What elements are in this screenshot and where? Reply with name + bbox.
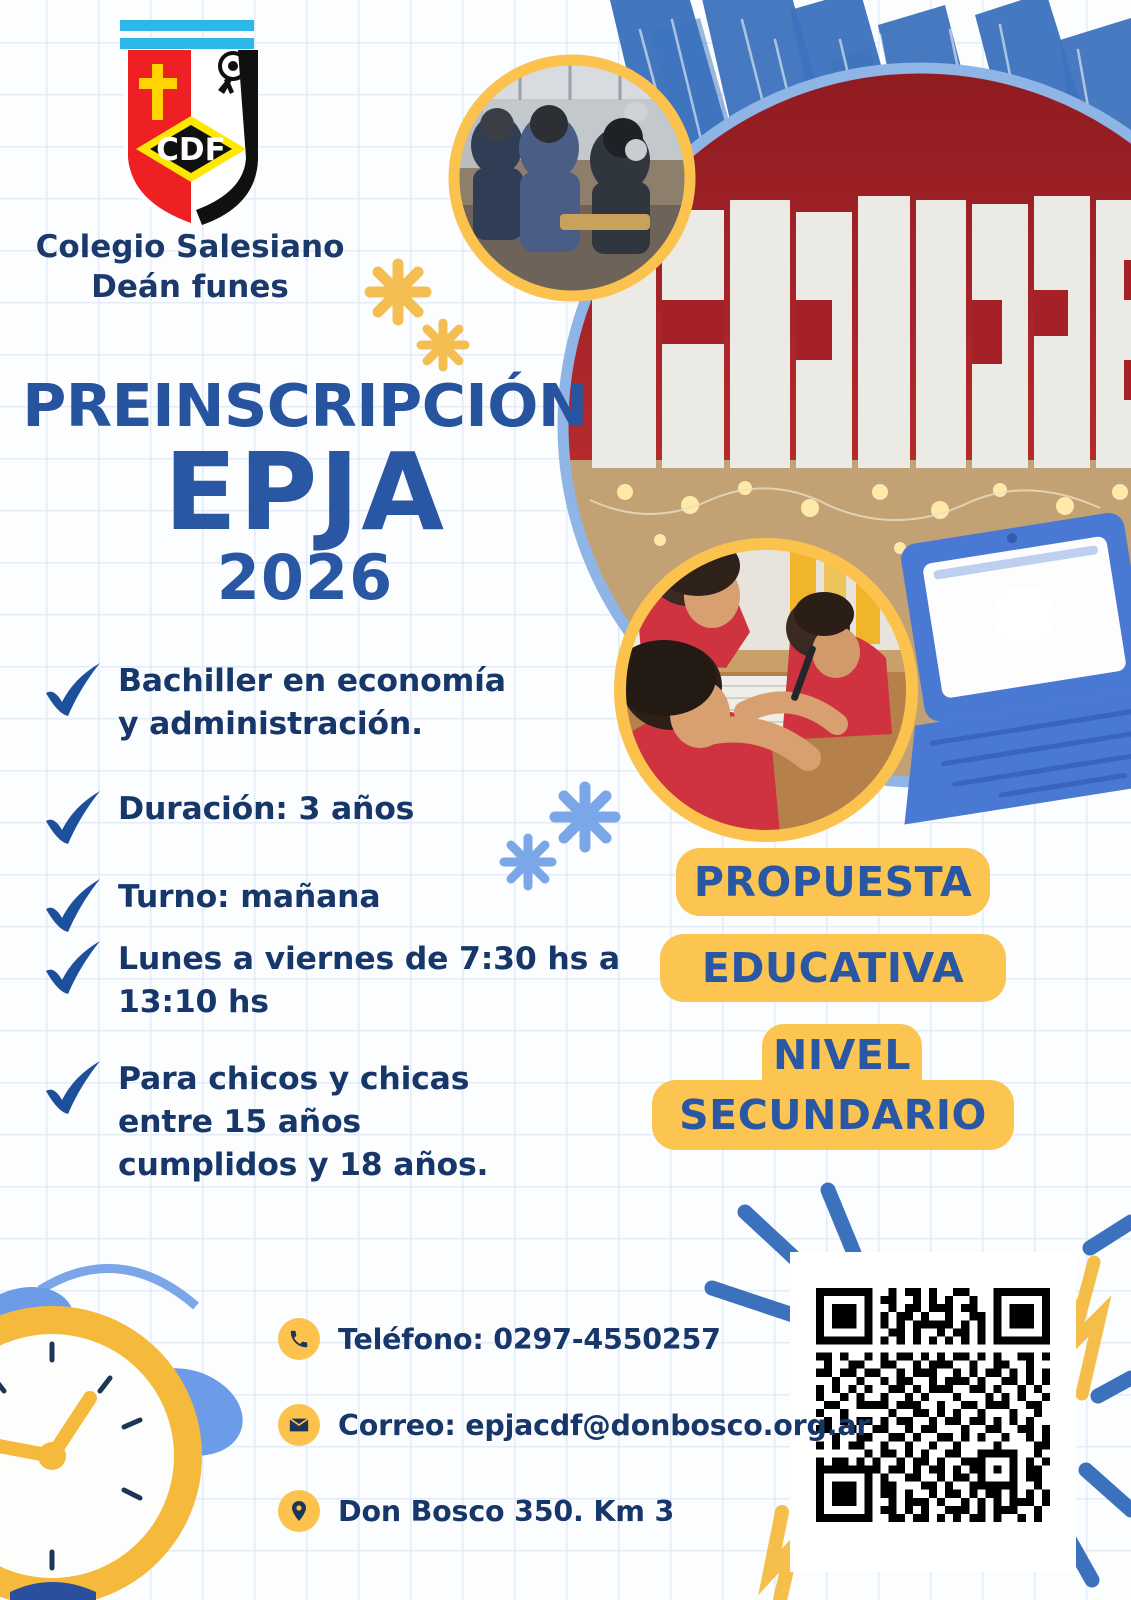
contact-address-row: Don Bosco 350. Km 3 [278, 1490, 870, 1532]
contact-email-row: Correo: epjacdf@donbosco.org.ar [278, 1404, 870, 1446]
contact-email-text: Correo: epjacdf@donbosco.org.ar [338, 1409, 870, 1442]
email-icon [278, 1404, 320, 1446]
contact-info: Teléfono: 0297-4550257 Correo: epjacdf@d… [278, 1318, 870, 1576]
contact-phone-text: Teléfono: 0297-4550257 [338, 1323, 721, 1356]
contact-phone-row: Teléfono: 0297-4550257 [278, 1318, 870, 1360]
phone-icon [278, 1318, 320, 1360]
location-icon [278, 1490, 320, 1532]
contact-address-text: Don Bosco 350. Km 3 [338, 1495, 674, 1528]
